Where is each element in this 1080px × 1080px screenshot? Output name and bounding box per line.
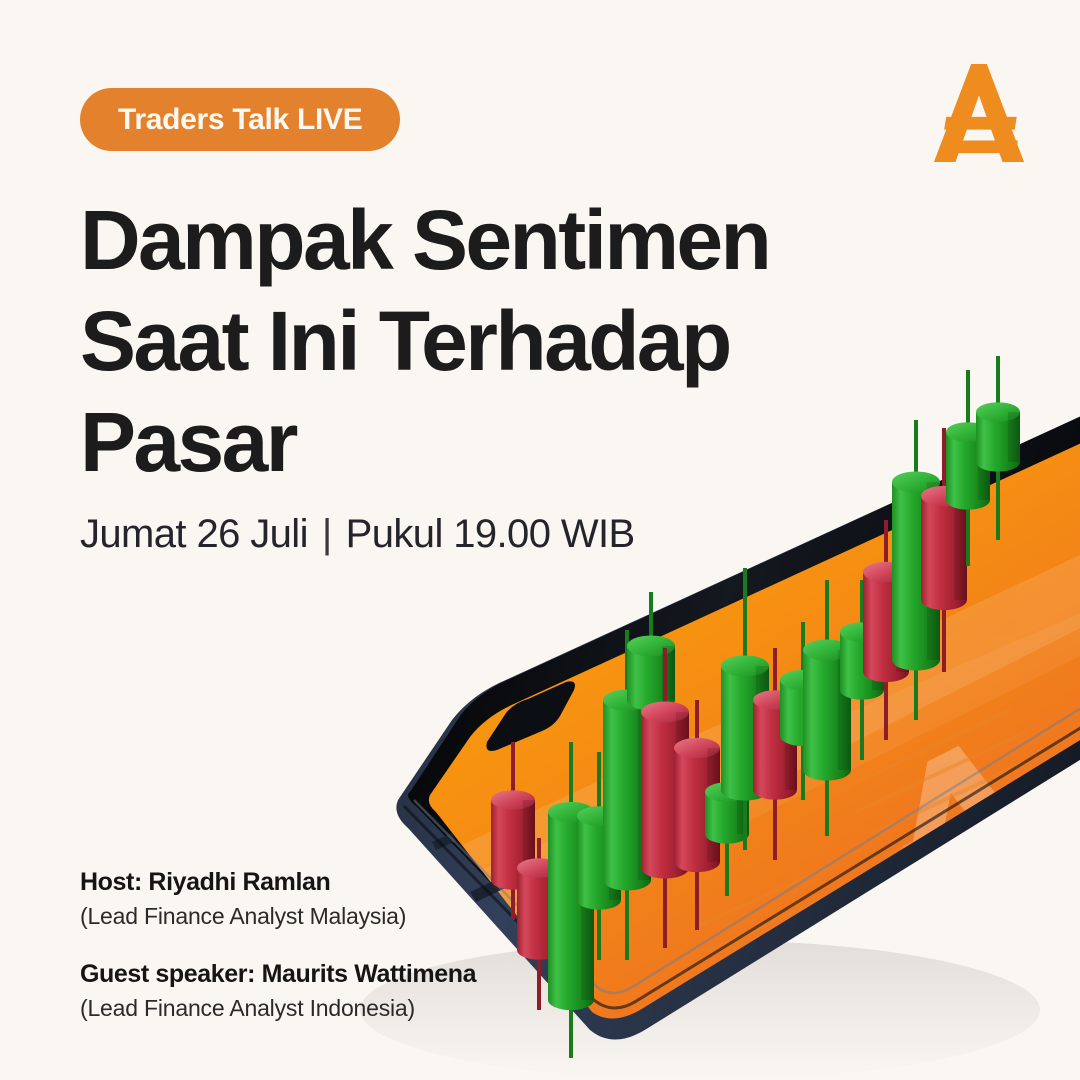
host-name: Host: Riyadhi Ramlan: [80, 866, 476, 900]
page-title: Dampak Sentimen Saat Ini Terhadap Pasar: [80, 190, 840, 492]
headline-line-2: Saat Ini Terhadap: [80, 291, 840, 392]
guest-name: Guest speaker: Maurits Wattimena: [80, 958, 476, 992]
event-schedule: Jumat 26 Juli | Pukul 19.00 WIB: [80, 512, 635, 557]
credit-host: Host: Riyadhi Ramlan (Lead Finance Analy…: [80, 866, 476, 932]
headline-line-1: Dampak Sentimen: [80, 190, 840, 291]
host-role: (Lead Finance Analyst Malaysia): [80, 900, 476, 932]
headline-line-3: Pasar: [80, 392, 840, 493]
brand-a-logo-icon: [930, 58, 1028, 168]
credit-guest: Guest speaker: Maurits Wattimena (Lead F…: [80, 958, 476, 1024]
schedule-separator: |: [322, 512, 332, 557]
live-badge[interactable]: Traders Talk LIVE: [80, 88, 400, 151]
event-date: Jumat 26 Juli: [80, 512, 308, 557]
live-badge-label: Traders Talk LIVE: [118, 103, 362, 137]
poster-canvas: Traders Talk LIVE Dampak Sentimen Saat I…: [0, 0, 1080, 1080]
guest-role: (Lead Finance Analyst Indonesia): [80, 992, 476, 1024]
event-time: Pukul 19.00 WIB: [346, 512, 635, 557]
speaker-credits: Host: Riyadhi Ramlan (Lead Finance Analy…: [80, 866, 476, 1024]
